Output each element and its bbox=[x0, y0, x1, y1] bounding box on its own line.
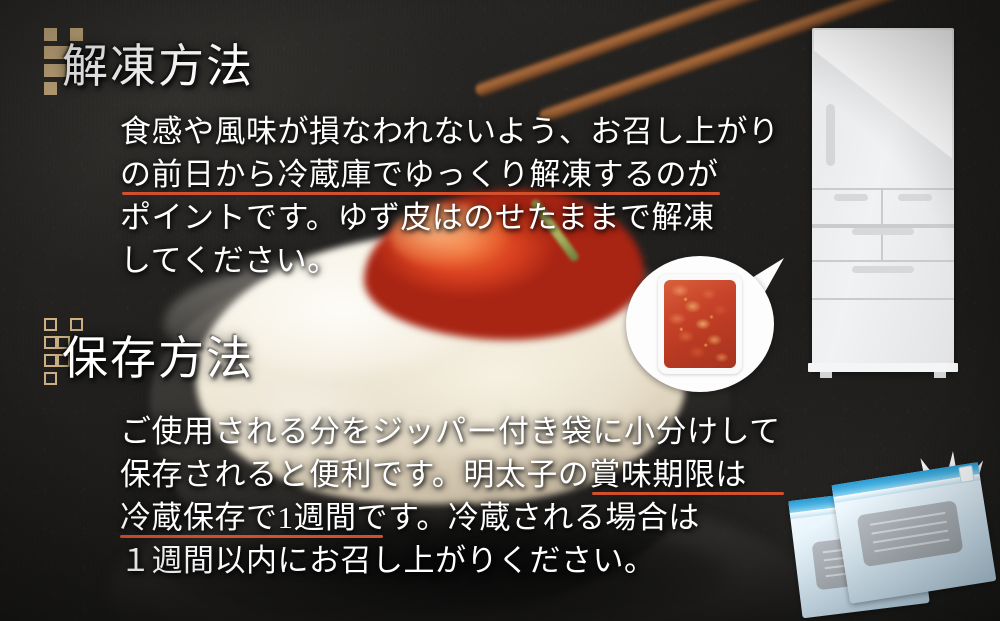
section-heading-storage: 保存方法 bbox=[62, 336, 254, 382]
refrigerator-illustration bbox=[812, 28, 954, 372]
fridge-base bbox=[808, 363, 958, 372]
fridge-foot-right bbox=[934, 372, 946, 378]
fridge-foot-left bbox=[820, 372, 832, 378]
fridge-drawer-split bbox=[881, 190, 883, 260]
fridge-drawer-handle-4 bbox=[852, 266, 914, 273]
zipper-bag-illustration bbox=[795, 455, 1000, 621]
fridge-divider-4 bbox=[812, 298, 954, 300]
storage-line-2: 保存されると便利です。明太子の賞味期限は bbox=[120, 453, 747, 496]
storage-line-3: 冷蔵保存で1週間です。冷蔵される場合は bbox=[120, 496, 700, 539]
fridge-drawer-handle-1 bbox=[834, 194, 868, 201]
zipper-bag-front bbox=[832, 462, 997, 604]
storage-line-4: １週間以内にお召し上がりください。 bbox=[120, 539, 656, 582]
mentaiko-product-bubble bbox=[626, 256, 774, 392]
thawing-line-2: の前日から冷蔵庫でゆっくり解凍するのが bbox=[120, 153, 719, 196]
promo-banner: 解凍方法 食感や風味が損なわれないよう、お召し上がり の前日から冷蔵庫でゆっくり… bbox=[0, 0, 1000, 621]
fridge-drawer-handle-3 bbox=[852, 228, 914, 235]
fridge-divider-3 bbox=[812, 260, 954, 262]
bag-zipper-slider bbox=[958, 465, 974, 483]
fridge-drawer-handle-2 bbox=[898, 194, 932, 201]
thawing-line-4: してください。 bbox=[120, 239, 339, 282]
thawing-underline bbox=[122, 192, 720, 195]
storage-line-1: ご使用される分をジッパー付き袋に小分けして bbox=[120, 410, 781, 453]
fridge-door-handle bbox=[826, 104, 835, 166]
fridge-divider-1 bbox=[812, 188, 954, 190]
thawing-line-1: 食感や風味が損なわれないよう、お召し上がり bbox=[120, 110, 779, 153]
storage-underline-partial bbox=[592, 492, 784, 495]
storage-underline bbox=[120, 535, 383, 538]
bag-label bbox=[857, 500, 964, 567]
mentaiko-roe bbox=[664, 280, 736, 368]
section-heading-thawing: 解凍方法 bbox=[62, 44, 254, 90]
thawing-line-3: ポイントです。ゆず皮はのせたままで解凍 bbox=[120, 196, 714, 239]
